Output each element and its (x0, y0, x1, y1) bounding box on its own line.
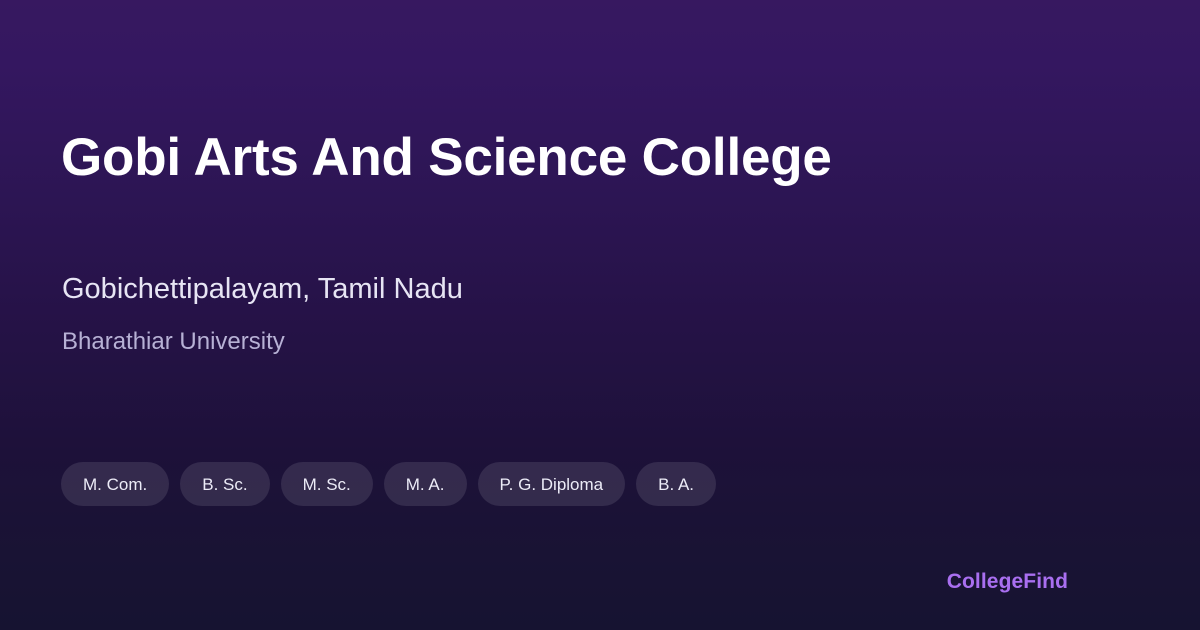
college-og-card: Gobi Arts And Science College Gobichetti… (0, 0, 1200, 630)
course-tag[interactable]: B. Sc. (180, 462, 269, 506)
page-title: Gobi Arts And Science College (61, 126, 832, 190)
course-tag[interactable]: B. A. (636, 462, 716, 506)
course-tag[interactable]: P. G. Diploma (478, 462, 626, 506)
course-tag[interactable]: M. A. (384, 462, 467, 506)
course-tag[interactable]: M. Com. (61, 462, 169, 506)
brand-wordmark: CollegeFind (947, 568, 1068, 596)
course-tag[interactable]: M. Sc. (281, 462, 373, 506)
course-tag-list: M. Com. B. Sc. M. Sc. M. A. P. G. Diplom… (61, 462, 1141, 506)
college-location: Gobichettipalayam, Tamil Nadu (62, 270, 463, 308)
card-content: Gobi Arts And Science College Gobichetti… (61, 0, 1139, 630)
affiliated-university: Bharathiar University (62, 326, 285, 358)
